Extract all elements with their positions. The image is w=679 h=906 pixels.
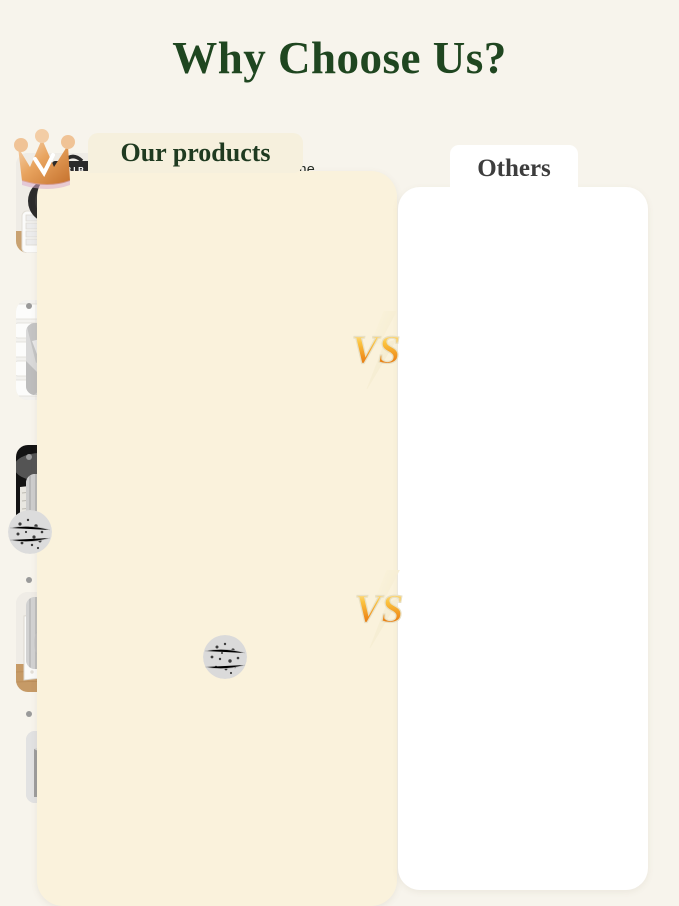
vs-badge-bottom: VS bbox=[348, 570, 410, 648]
others-tab-label: Others bbox=[477, 155, 551, 183]
mold-detail-inset bbox=[8, 510, 52, 554]
our-products-tab-label: Our products bbox=[120, 138, 270, 168]
dirt-detail-inset bbox=[203, 635, 247, 679]
page-title: Why Choose Us? bbox=[0, 0, 679, 81]
our-products-tab: Our products bbox=[88, 133, 303, 173]
svg-text:VS: VS bbox=[355, 586, 404, 631]
svg-text:VS: VS bbox=[352, 327, 401, 372]
comparison-container: Our products bbox=[0, 133, 679, 849]
others-tab: Others bbox=[450, 145, 578, 192]
our-products-card bbox=[37, 171, 397, 906]
vs-badge-top: VS bbox=[345, 311, 407, 389]
crown-icon bbox=[8, 125, 92, 191]
others-card bbox=[398, 187, 648, 890]
